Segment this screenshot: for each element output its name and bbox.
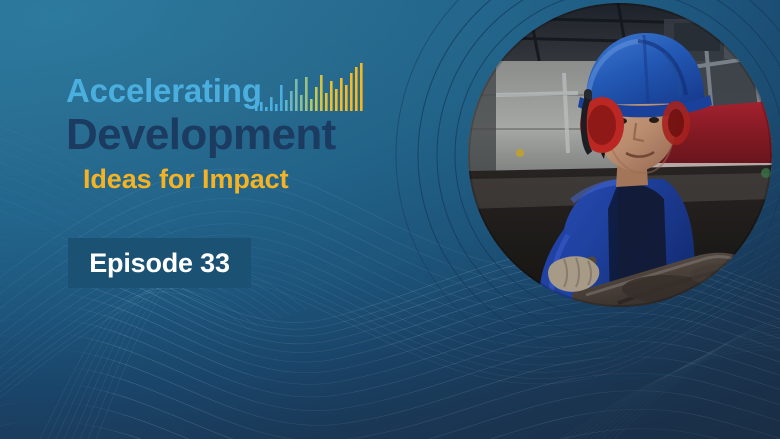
waveform-bar-18 bbox=[345, 85, 348, 111]
waveform-bar-3 bbox=[270, 97, 273, 111]
waveform-bar-6 bbox=[285, 100, 288, 111]
waveform-bar-12 bbox=[315, 87, 318, 111]
waveform-bar-1 bbox=[260, 102, 263, 111]
waveform-bar-19 bbox=[350, 73, 353, 111]
waveform-bar-17 bbox=[340, 78, 343, 111]
worker-photo-illustration bbox=[468, 3, 772, 307]
waveform-bar-21 bbox=[360, 63, 363, 111]
waveform-bar-9 bbox=[300, 95, 303, 111]
episode-badge-label: Episode 33 bbox=[89, 248, 230, 279]
audio-waveform-icon bbox=[255, 63, 367, 115]
waveform-bar-5 bbox=[280, 85, 283, 111]
podcast-cover-canvas: Accelerating Development Ideas for Impac… bbox=[0, 0, 780, 439]
waveform-bar-15 bbox=[330, 81, 333, 111]
waveform-bar-20 bbox=[355, 67, 358, 111]
show-tagline: Ideas for Impact bbox=[83, 166, 466, 193]
waveform-bar-7 bbox=[290, 91, 293, 111]
title-line-development: Development bbox=[66, 113, 466, 157]
waveform-bar-10 bbox=[305, 77, 308, 111]
waveform-bar-2 bbox=[265, 107, 268, 111]
waveform-bar-8 bbox=[295, 79, 298, 111]
waveform-bar-13 bbox=[320, 75, 323, 111]
waveform-bar-0 bbox=[255, 106, 258, 111]
episode-badge: Episode 33 bbox=[68, 238, 251, 288]
episode-guest-photo bbox=[468, 3, 772, 307]
waveform-bar-16 bbox=[335, 89, 338, 111]
waveform-bar-4 bbox=[275, 104, 278, 111]
waveform-bar-14 bbox=[325, 93, 328, 111]
waveform-bar-11 bbox=[310, 99, 313, 111]
